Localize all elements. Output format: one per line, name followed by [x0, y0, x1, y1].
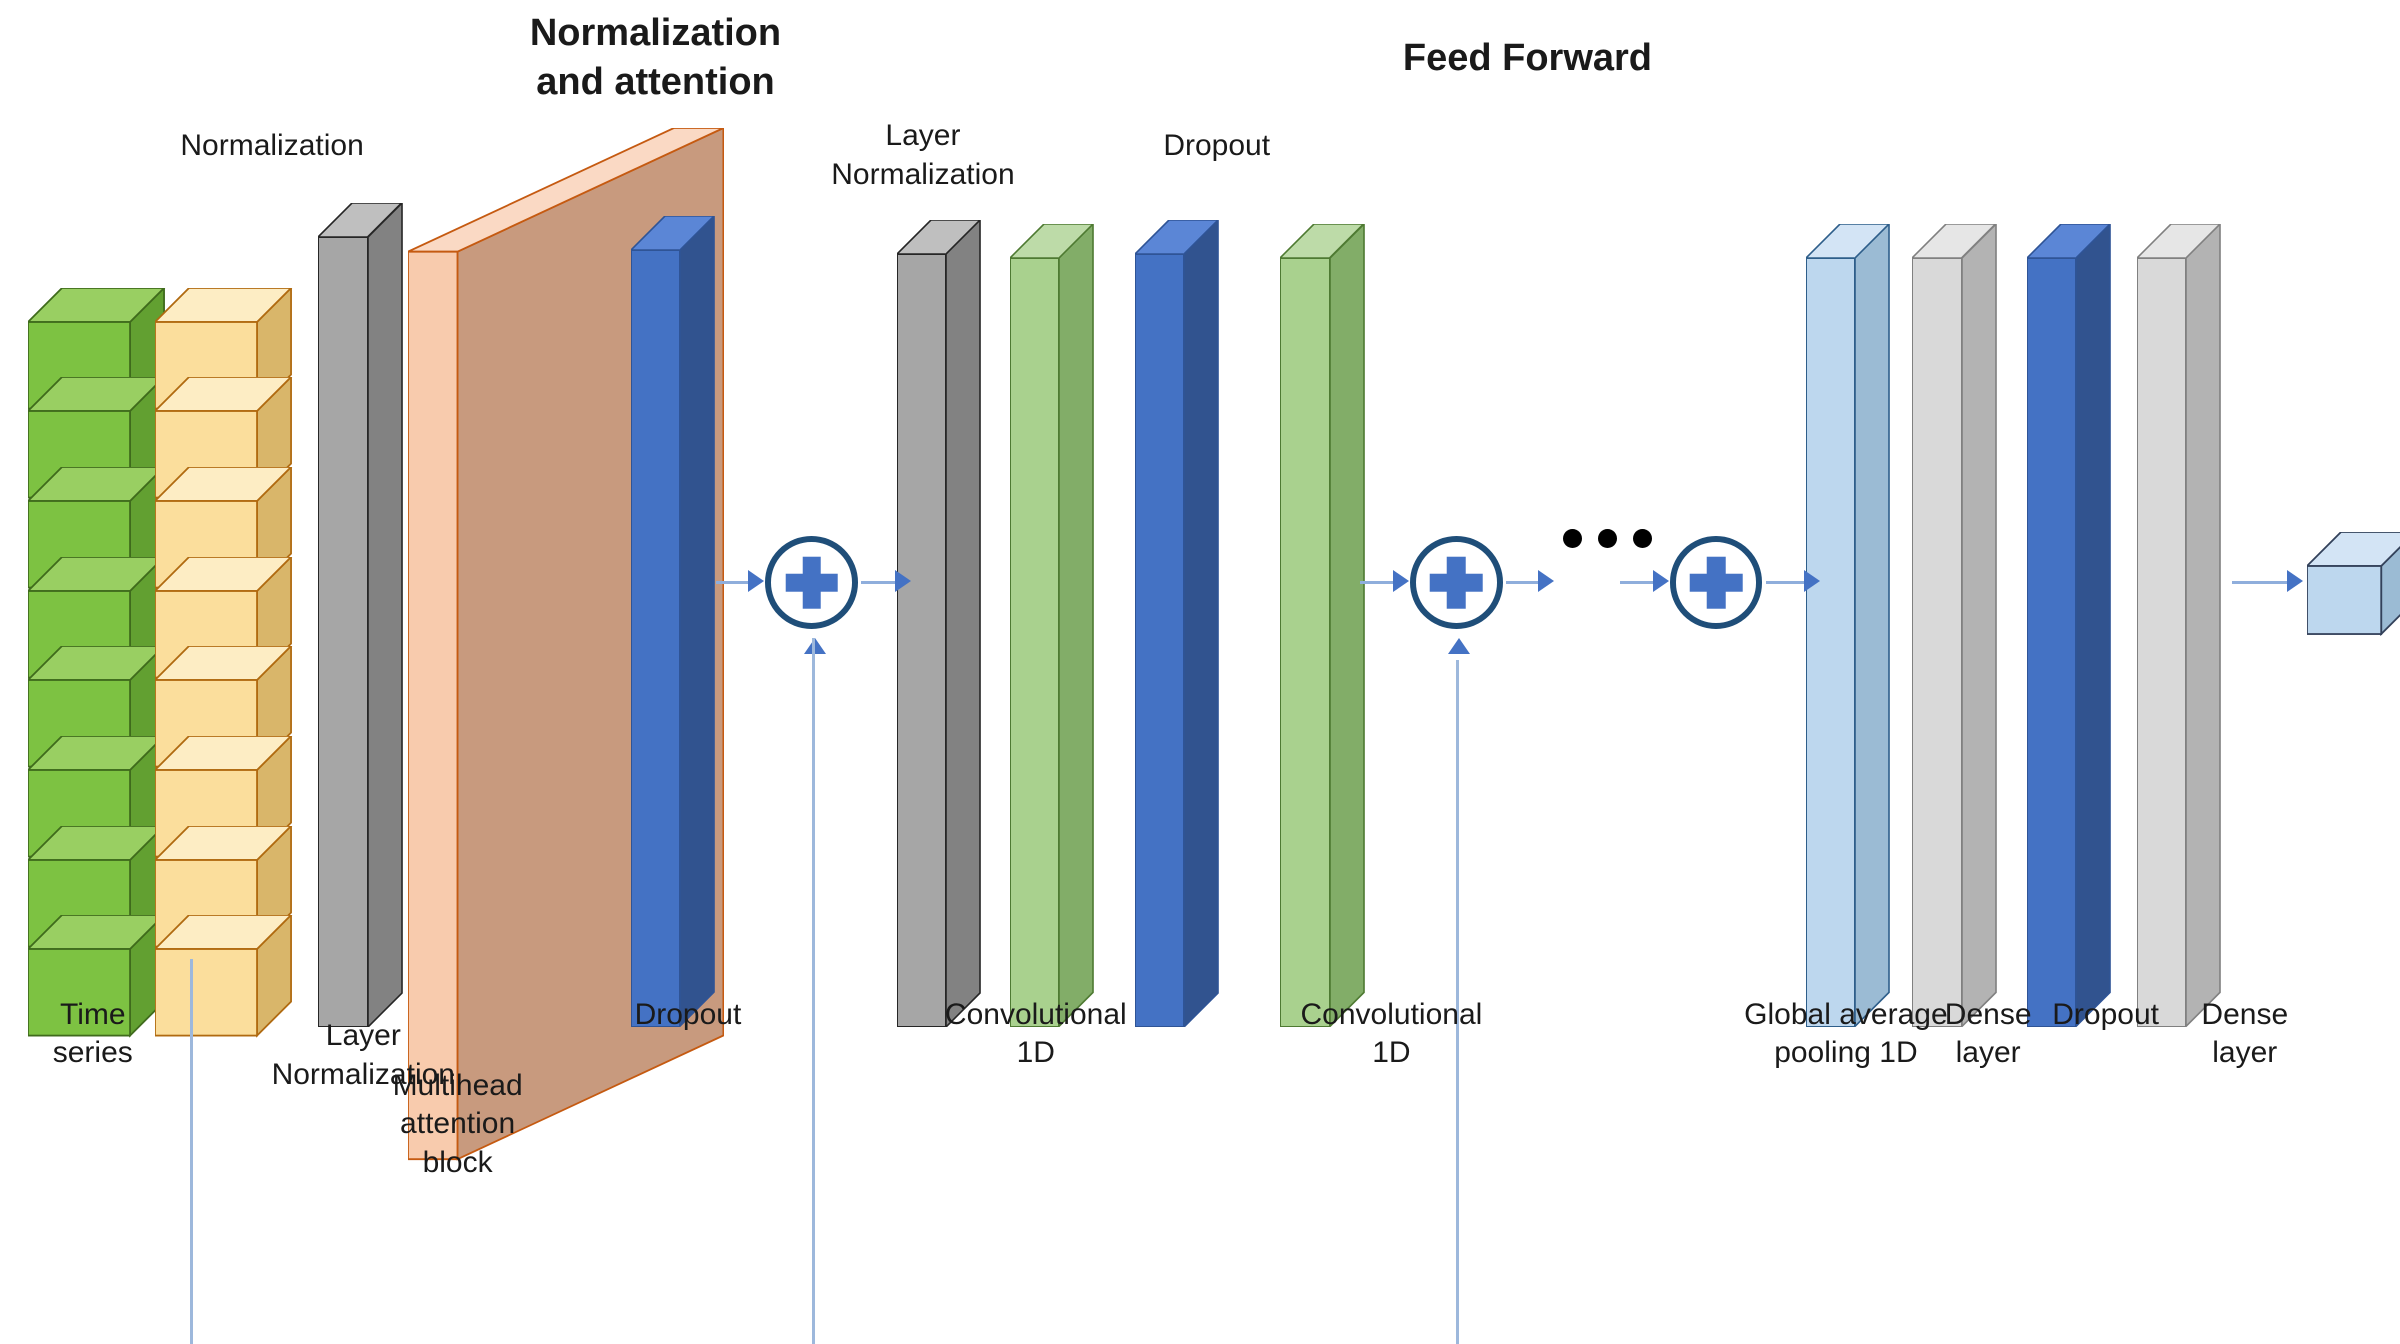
label-normalization: Normalization: [56, 127, 489, 165]
bar-global-average-pooling-1d: [1806, 224, 1889, 1026]
residual-add-3: [1670, 536, 1763, 629]
arrow-dropout-to-add1-line: [716, 581, 750, 584]
arrow-dense2-to-output-line: [2232, 581, 2288, 584]
arrow-add1-to-layernorm1-arrowhead: [895, 570, 911, 592]
arrow-dots-to-add3-arrowhead: [1653, 570, 1669, 592]
plus-icon-horizontal: [1430, 574, 1483, 593]
arrow-add3-to-gap1d-line: [1766, 581, 1806, 584]
arrow-dropout-to-add1-arrowhead: [748, 570, 764, 592]
arrow-add2-to-dots-line: [1506, 581, 1540, 584]
bar-dense-layer-1-side-face: [1962, 224, 1999, 1026]
residual-path-2-arrowhead: [1448, 638, 1470, 654]
bar-dropout-ff-front-face: [1135, 254, 1184, 1027]
arrow-add2-to-dots-arrowhead: [1538, 570, 1554, 592]
bar-dropout-attn-side-face: [680, 216, 717, 1026]
bar-convolutional-1d-a-side-face: [1059, 224, 1096, 1026]
bar-convolutional-1d-a-front-face: [1010, 258, 1059, 1026]
bar-global-average-pooling-1d-side-face: [1855, 224, 1892, 1026]
residual-path-2-segment-down: [812, 638, 815, 1344]
bar-layer-normalization-0: [318, 203, 401, 1027]
label-convolutional-1d-b: Convolutional 1D: [1160, 996, 1624, 1073]
diagram-canvas: Normalization and attentionFeed ForwardN…: [0, 0, 2400, 1344]
bar-layer-normalization-1: [897, 220, 980, 1027]
ellipsis-dots: [1563, 529, 1652, 548]
bar-dropout-ff: [1135, 220, 1218, 1027]
label-multihead-attention-block: Multihead attention block: [288, 1067, 628, 1182]
bar-layer-normalization-0-side-face: [368, 203, 405, 1027]
bar-convolutional-1d-b: [1280, 224, 1363, 1026]
bar-dropout-final-side-face: [2076, 224, 2113, 1026]
label-dropout-1-top: Dropout: [1039, 127, 1395, 165]
ellipsis-dot: [1633, 529, 1652, 548]
bar-dense-layer-2-front-face: [2137, 258, 2186, 1026]
bar-dense-layer-1-front-face: [1912, 258, 1961, 1026]
arrow-add3-to-gap1d-arrowhead: [1804, 570, 1820, 592]
plus-icon-horizontal: [1690, 574, 1743, 593]
plus-icon-horizontal: [785, 574, 838, 593]
arrow-dots-to-add3-line: [1620, 581, 1654, 584]
arrow-dense2-to-output-arrowhead: [2287, 570, 2303, 592]
bar-dropout-ff-side-face: [1184, 220, 1221, 1027]
group-title-2: Feed Forward: [1296, 34, 1760, 83]
bar-dropout-final: [2027, 224, 2110, 1026]
bar-dense-layer-2-side-face: [2186, 224, 2223, 1026]
bar-layer-normalization-0-front-face: [318, 237, 367, 1027]
bar-layer-normalization-1-side-face: [946, 220, 983, 1027]
bar-dropout-attn: [631, 216, 714, 1026]
bar-dropout-final-front-face: [2027, 258, 2076, 1026]
residual-add-2: [1410, 536, 1503, 629]
residual-add-1: [765, 536, 858, 629]
bar-global-average-pooling-1d-front-face: [1806, 258, 1855, 1026]
arrow-add1-to-layernorm1-line: [861, 581, 897, 584]
ellipsis-dot: [1563, 529, 1582, 548]
bar-convolutional-1d-a: [1010, 224, 1093, 1026]
arrow-conv1db-to-add2-arrowhead: [1393, 570, 1409, 592]
arrow-conv1db-to-add2-line: [1360, 581, 1394, 584]
bar-dense-layer-2: [2137, 224, 2220, 1026]
bar-convolutional-1d-b-front-face: [1280, 258, 1329, 1026]
bar-convolutional-1d-b-side-face: [1330, 224, 1367, 1026]
label-dense-layer-2: Dense layer: [2090, 996, 2399, 1073]
output-cube: [2307, 532, 2400, 634]
bar-dropout-attn-front-face: [631, 250, 680, 1026]
group-title-1: Normalization and attention: [424, 9, 888, 106]
ellipsis-dot: [1598, 529, 1617, 548]
bar-dense-layer-1: [1912, 224, 1995, 1026]
bar-layer-normalization-1-front-face: [897, 254, 946, 1027]
